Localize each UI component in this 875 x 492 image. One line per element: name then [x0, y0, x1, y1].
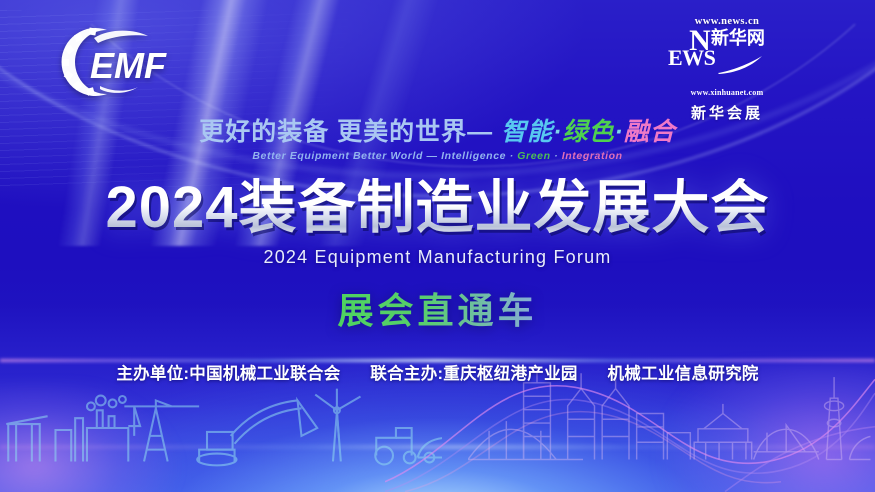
xinhua-wordmark-row1: N 新华网 [689, 29, 765, 54]
stadium-icon [850, 436, 871, 459]
xinhua-url-bottom: www.xinhuanet.com [691, 88, 764, 97]
factory-icon [56, 395, 129, 461]
slogan-cn-intelligence: 智能 [501, 118, 553, 146]
co-host-organizer: 联合主办:重庆枢纽港产业园 [370, 365, 577, 383]
xinhua-wordmark-row2: EWS [667, 55, 787, 86]
xinhua-logo[interactable]: www.news.cn N 新华网 EWS www.xinhuanet.com … [667, 16, 787, 123]
host-organizer: 主办单位:中国机械工业联合会 [116, 365, 340, 383]
slogan-chinese: 更好的装备 更美的世界— 智能·绿色·融合 [0, 118, 875, 147]
slogan-en-green: Green [517, 150, 550, 162]
emf-logo[interactable]: EMF [58, 26, 176, 98]
slogan-english: Better Equipment Better World — Intellig… [0, 150, 875, 162]
event-banner: EMF www.news.cn N 新华网 EWS www.xinhuanet.… [0, 0, 875, 492]
pagoda-icon [694, 404, 751, 460]
port-crane-icon [7, 416, 48, 461]
organizers-line: 主办单位:中国机械工业联合会 联合主办:重庆枢纽港产业园 机械工业信息研究院 [0, 360, 875, 384]
wind-turbine-icon [316, 388, 361, 461]
tv-tower-icon [825, 377, 844, 459]
emf-wordmark: EMF [90, 45, 167, 86]
crane-icon [125, 400, 200, 461]
horizon-glow-line-2 [0, 446, 875, 448]
slogan-en-integration: Integration [562, 150, 623, 162]
building-block-icon [637, 413, 691, 459]
car-icon [418, 437, 442, 462]
page-title: 2024装备制造业发展大会 [0, 178, 875, 237]
slogan-cn-part1: 更好的装备 更美的世界— [199, 118, 493, 146]
xinhua-letter-n: N [689, 29, 710, 54]
twin-towers-icon [568, 373, 629, 459]
slogan-cn-dot-2: · [614, 118, 623, 146]
tractor-icon [376, 428, 416, 464]
bridge-icon [468, 421, 583, 459]
arch-bridge-icon [754, 425, 819, 460]
slogan-en-part1: Better Equipment Better World — Intellig… [252, 150, 506, 162]
page-title-english: 2024 Equipment Manufacturing Forum [0, 247, 875, 268]
slogan-cn-green: 绿色 [562, 118, 614, 146]
banner-text-block: 更好的装备 更美的世界— 智能·绿色·融合 Better Equipment B… [0, 118, 875, 384]
co-host-organizer-2: 机械工业信息研究院 [607, 365, 758, 383]
slogan-cn-integration: 融合 [624, 118, 676, 146]
xinhua-swoosh-icon [717, 55, 763, 80]
excavator-icon [198, 400, 318, 465]
slogan-en-dot-1: · [510, 150, 514, 162]
haze-left [0, 384, 280, 492]
expo-express-title: 展会直通车 [0, 282, 875, 334]
xinhua-brand-cn: 新华网 [711, 29, 765, 47]
slogan-en-dot-2: · [554, 150, 558, 162]
